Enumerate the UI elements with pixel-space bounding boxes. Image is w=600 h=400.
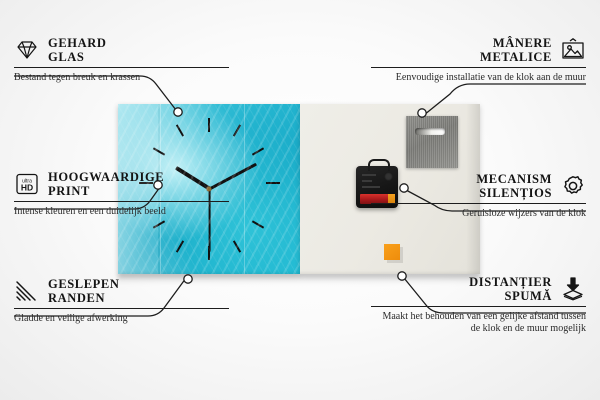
title-line-1: GEHARD [48, 36, 106, 50]
callout-title: DISTANȚIER SPUMĂ [469, 275, 552, 303]
callout-distantier-spuma: DISTANȚIER SPUMĂ Maakt het behouden van … [371, 275, 586, 335]
callout-header: ultra HD HOOGWAARDIGE PRINT [14, 170, 229, 198]
svg-text:HD: HD [21, 183, 33, 193]
glass-seam [244, 104, 245, 274]
hanger-slot [415, 128, 445, 135]
title-line-2: METALICE [480, 50, 552, 64]
callout-header: GEHARD GLAS [14, 36, 229, 64]
spacer-arrow-icon [560, 277, 586, 301]
mechanism-hook [368, 159, 390, 171]
callout-manere-metalice: MÂNERE METALICE Eenvoudige installatie v… [371, 36, 586, 84]
title-line-2: RANDEN [48, 291, 120, 305]
callout-description: Maakt het behouden van een gelijke afsta… [371, 311, 586, 335]
callout-description: Intense kleuren en een duidelijk beeld [14, 206, 229, 218]
callout-description: Gladde en veilige afwerking [14, 313, 229, 325]
divider [371, 67, 586, 68]
divider [14, 201, 229, 202]
callout-title: MECANISM SILENȚIOS [476, 172, 552, 200]
title-line-2: GLAS [48, 50, 106, 64]
title-line-1: DISTANȚIER [469, 275, 552, 289]
title-line-2: PRINT [48, 184, 164, 198]
callout-title: GESLEPEN RANDEN [48, 277, 120, 305]
diamond-icon [14, 38, 40, 62]
callout-title: HOOGWAARDIGE PRINT [48, 170, 164, 198]
title-line-2: SPUMĂ [469, 289, 552, 303]
callout-header: DISTANȚIER SPUMĂ [371, 275, 586, 303]
title-line-1: GESLEPEN [48, 277, 120, 291]
product-feature-infographic: GEHARD GLAS Bestand tegen breuk en krass… [0, 0, 600, 400]
gear-icon [560, 174, 586, 198]
callout-description: Eenvoudige installatie van de klok aan d… [371, 72, 586, 84]
callout-title: MÂNERE METALICE [480, 36, 552, 64]
ultra-hd-icon: ultra HD [14, 172, 40, 196]
callout-mecanism-silentios: MECANISM SILENȚIOS Geruisloze wijzers va… [371, 172, 586, 220]
callout-header: MECANISM SILENȚIOS [371, 172, 586, 200]
picture-frame-icon [560, 38, 586, 62]
foam-spacer [384, 244, 400, 260]
callout-hoogwaardige-print: ultra HD HOOGWAARDIGE PRINT Intense kleu… [14, 170, 229, 218]
divider [14, 308, 229, 309]
callout-title: GEHARD GLAS [48, 36, 106, 64]
callout-gehard-glas: GEHARD GLAS Bestand tegen breuk en krass… [14, 36, 229, 84]
beveled-edges-icon [14, 279, 40, 303]
divider [371, 306, 586, 307]
divider [371, 203, 586, 204]
title-line-1: HOOGWAARDIGE [48, 170, 164, 184]
title-line-2: SILENȚIOS [476, 186, 552, 200]
divider [14, 67, 229, 68]
callout-header: GESLEPEN RANDEN [14, 277, 229, 305]
callout-header: MÂNERE METALICE [371, 36, 586, 64]
title-line-1: MECANISM [476, 172, 552, 186]
callout-description: Geruisloze wijzers van de klok [371, 208, 586, 220]
callout-description: Bestand tegen breuk en krassen [14, 72, 229, 84]
title-line-1: MÂNERE [480, 36, 552, 50]
callout-geslepen-randen: GESLEPEN RANDEN Gladde en veilige afwerk… [14, 277, 229, 325]
metal-hanger-plate [406, 116, 458, 168]
